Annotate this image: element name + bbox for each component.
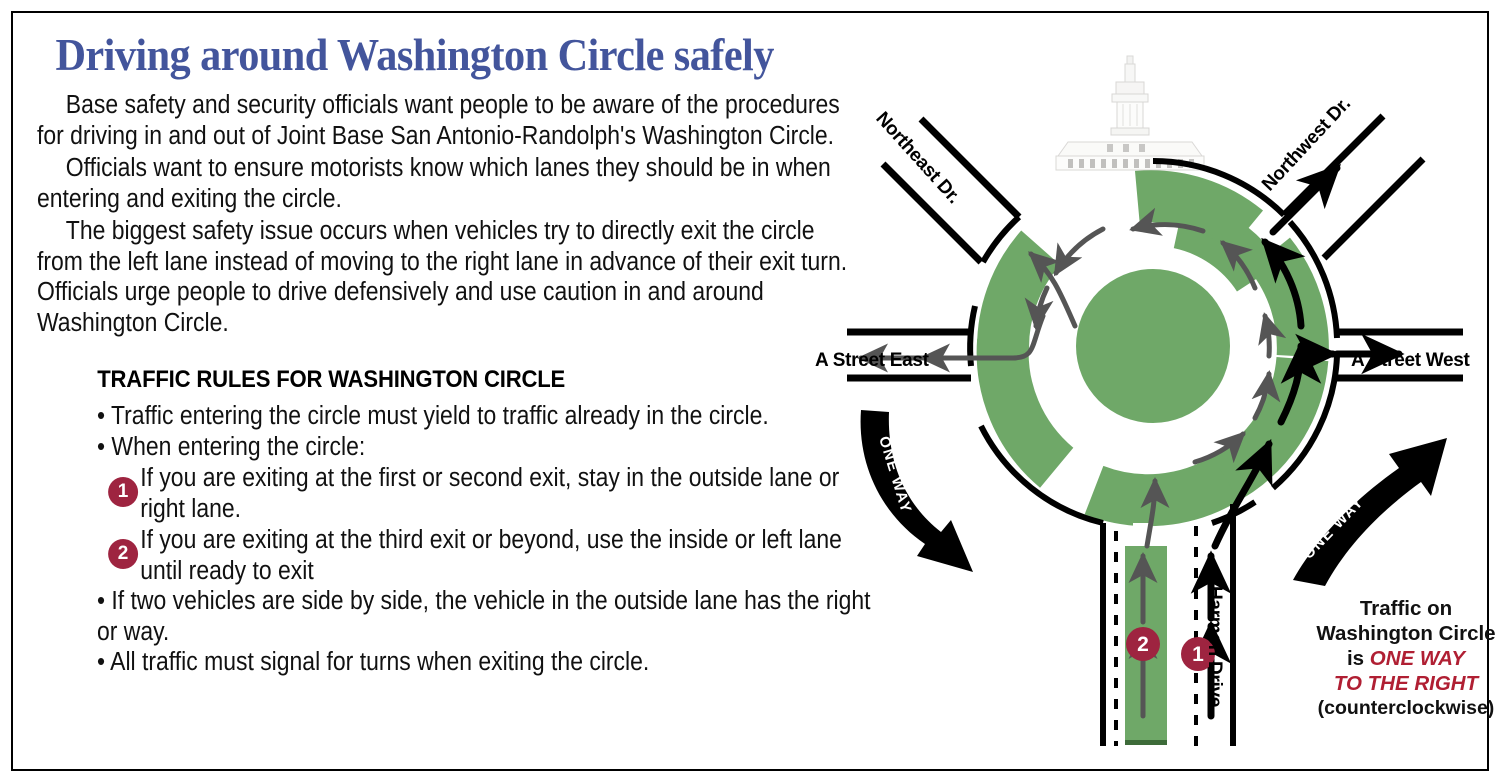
rule-numbered-2: 2 If you are exiting at the third exit o… — [97, 525, 889, 586]
article-paragraph: Base safety and security officials want … — [37, 90, 865, 151]
rule-numbered-1-text: If you are exiting at the first or secon… — [140, 464, 839, 523]
lane-marker-2: 2 — [1126, 627, 1160, 661]
one-way-note-line3-prefix: is — [1347, 647, 1370, 670]
road-label-harmon-drive: Harmon Drive — [1203, 586, 1225, 707]
page-title: Driving around Washington Circle safely — [31, 19, 811, 78]
one-way-note-line1: Traffic on — [1313, 596, 1499, 621]
number-badge-2: 2 — [108, 539, 138, 569]
one-way-note-line3: is ONE WAY — [1313, 646, 1499, 671]
rules-heading: TRAFFIC RULES FOR WASHINGTON CIRCLE — [31, 366, 795, 394]
center-island — [1076, 269, 1230, 423]
infographic-frame: Driving around Washington Circle safely … — [11, 11, 1489, 771]
rules-list: • Traffic entering the circle must yield… — [31, 401, 861, 678]
rule-bullet: • All traffic must signal for turns when… — [97, 647, 889, 678]
rule-numbered-2-text: If you are exiting at the third exit or … — [140, 526, 842, 585]
one-way-note-line4: TO THE RIGHT — [1313, 671, 1499, 696]
rule-numbered-1: 1 If you are exiting at the first or sec… — [97, 463, 889, 524]
one-way-note-line2: Washington Circle — [1313, 621, 1499, 646]
infographic-page: Driving around Washington Circle safely … — [0, 0, 1500, 782]
one-way-note: Traffic on Washington Circle is ONE WAY … — [1313, 596, 1499, 721]
article-paragraph: The biggest safety issue occurs when veh… — [37, 216, 865, 338]
number-badge-1: 1 — [108, 477, 138, 507]
rule-bullet: • When entering the circle: — [97, 432, 889, 463]
article-column: Driving around Washington Circle safely … — [31, 19, 861, 763]
roundabout-diagram: ONE WAY ONE WAY 2 1 Northeast Dr. — [803, 26, 1500, 782]
one-way-band-right: ONE WAY — [1293, 438, 1447, 586]
randolph-tower-icon — [1056, 56, 1204, 170]
road-label-a-street-west: A Street West — [1351, 350, 1470, 372]
lane-marker-2-label: 2 — [1137, 633, 1149, 656]
one-way-note-line3-red: ONE WAY — [1370, 647, 1465, 670]
article-body: Base safety and security officials want … — [31, 90, 861, 338]
article-paragraph: Officials want to ensure motorists know … — [37, 153, 865, 214]
road-label-a-street-east: A Street East — [815, 350, 929, 372]
one-way-band-left: ONE WAY — [861, 410, 973, 572]
rule-bullet: • Traffic entering the circle must yield… — [97, 401, 889, 432]
rule-bullet: • If two vehicles are side by side, the … — [97, 586, 889, 647]
one-way-note-line5: (counterclockwise) — [1313, 696, 1499, 721]
